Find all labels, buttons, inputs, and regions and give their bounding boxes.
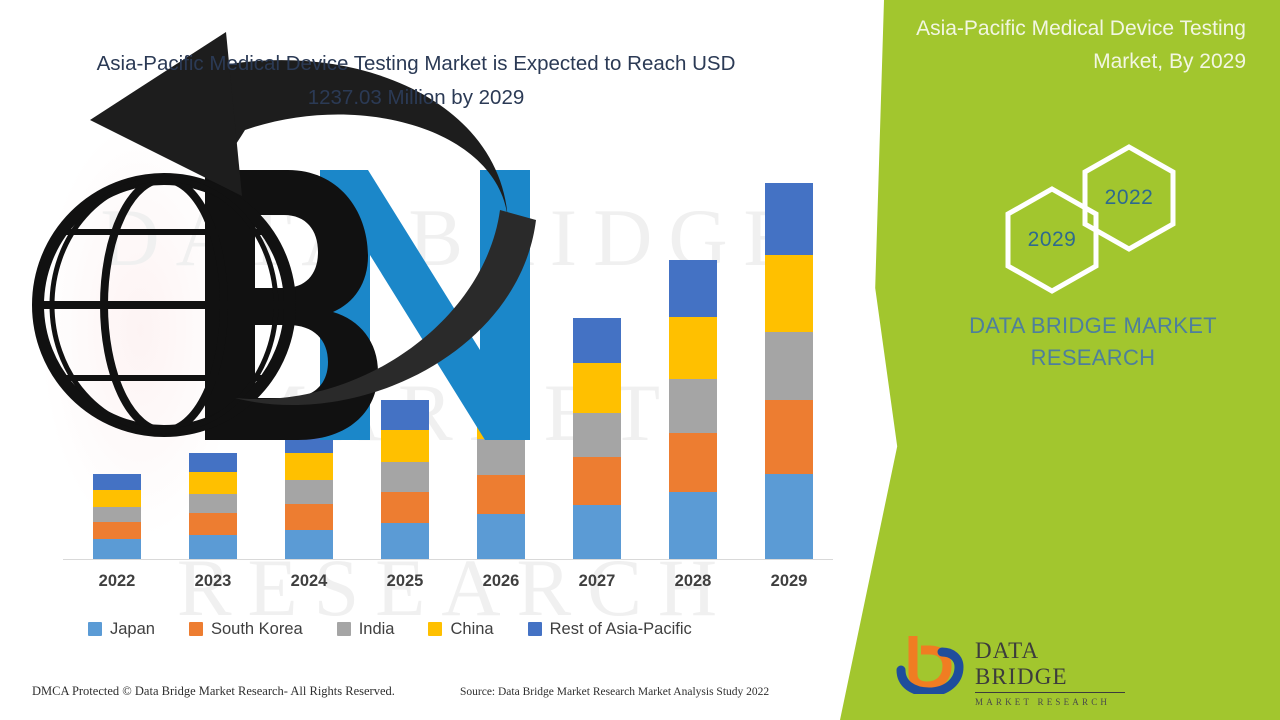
x-tick-2028: 2028 xyxy=(658,572,728,591)
bar-segment-china-2023 xyxy=(189,472,237,494)
legend-swatch-icon xyxy=(88,622,102,636)
x-tick-2027: 2027 xyxy=(562,572,632,591)
bar-segment-japan-2024 xyxy=(285,530,333,559)
x-tick-2026: 2026 xyxy=(466,572,536,591)
x-tick-2029: 2029 xyxy=(754,572,824,591)
bar-segment-india-2025 xyxy=(381,462,429,491)
legend-swatch-icon xyxy=(428,622,442,636)
bar-segment-rest-of-asia-pacific-2028 xyxy=(669,260,717,317)
legend-item-south-korea[interactable]: South Korea xyxy=(189,620,303,639)
bar-segment-india-2028 xyxy=(669,379,717,433)
bar-segment-south-korea-2026 xyxy=(477,475,525,514)
hexagon-label-2029: 2029 xyxy=(1028,228,1077,252)
hexagon-label-2022: 2022 xyxy=(1105,186,1154,210)
bar-segment-japan-2026 xyxy=(477,514,525,559)
x-tick-2022: 2022 xyxy=(82,572,152,591)
bar-segment-china-2022 xyxy=(93,490,141,507)
legend-label: China xyxy=(450,620,493,639)
legend-swatch-icon xyxy=(189,622,203,636)
bar-column-2029 xyxy=(765,183,813,559)
panel-title: Asia-Pacific Medical Device Testing Mark… xyxy=(916,12,1246,78)
globe-icon xyxy=(38,179,290,431)
bar-segment-south-korea-2022 xyxy=(93,522,141,539)
bar-segment-japan-2027 xyxy=(573,505,621,559)
bar-segment-india-2029 xyxy=(765,332,813,400)
legend-label: Rest of Asia-Pacific xyxy=(550,620,692,639)
bar-segment-japan-2025 xyxy=(381,523,429,559)
chart-legend: JapanSouth KoreaIndiaChinaRest of Asia-P… xyxy=(88,616,692,642)
bar-segment-rest-of-asia-pacific-2029 xyxy=(765,183,813,255)
bar-segment-japan-2022 xyxy=(93,539,141,559)
bar-column-2022 xyxy=(93,474,141,559)
x-tick-2025: 2025 xyxy=(370,572,440,591)
legend-swatch-icon xyxy=(528,622,542,636)
dmca-footer-text: DMCA Protected © Data Bridge Market Rese… xyxy=(32,684,395,699)
bar-segment-south-korea-2027 xyxy=(573,457,621,505)
bar-segment-rest-of-asia-pacific-2022 xyxy=(93,474,141,489)
page-title: Asia-Pacific Medical Device Testing Mark… xyxy=(96,47,736,115)
bar-segment-rest-of-asia-pacific-2023 xyxy=(189,453,237,473)
data-bridge-logo: DATA BRIDGE MARKET RESEARCH xyxy=(895,630,1125,700)
hexagon-badges: 2022 2029 xyxy=(995,143,1185,283)
legend-item-rest-of-asia-pacific[interactable]: Rest of Asia-Pacific xyxy=(528,620,692,639)
legend-label: India xyxy=(359,620,395,639)
data-bridge-logo-words: DATA BRIDGE MARKET RESEARCH xyxy=(975,638,1125,707)
hexagon-badge-2029: 2029 xyxy=(1003,185,1101,295)
bar-segment-china-2028 xyxy=(669,317,717,379)
legend-label: Japan xyxy=(110,620,155,639)
legend-swatch-icon xyxy=(337,622,351,636)
bar-segment-china-2024 xyxy=(285,453,333,480)
infographic-root: DATA BRIDGE MARKET RESEARCH Asia-Pacific… xyxy=(0,0,1280,720)
bar-column-2028 xyxy=(669,260,717,559)
data-bridge-mark-icon xyxy=(895,632,967,694)
x-axis-line xyxy=(63,559,833,560)
x-axis-tick-labels: 20222023202420252026202720282029 xyxy=(45,572,835,600)
panel-brand-text: DATA BRIDGE MARKET RESEARCH xyxy=(928,310,1258,374)
bar-segment-japan-2028 xyxy=(669,492,717,559)
logo-primary-text: DATA BRIDGE xyxy=(975,638,1125,693)
source-footer-text: Source: Data Bridge Market Research Mark… xyxy=(460,686,769,698)
legend-item-japan[interactable]: Japan xyxy=(88,620,155,639)
bar-column-2023 xyxy=(189,453,237,559)
bar-segment-japan-2023 xyxy=(189,535,237,559)
logo-secondary-text: MARKET RESEARCH xyxy=(975,697,1125,707)
bar-segment-south-korea-2028 xyxy=(669,433,717,492)
bar-segment-india-2024 xyxy=(285,480,333,504)
x-tick-2023: 2023 xyxy=(178,572,248,591)
legend-item-china[interactable]: China xyxy=(428,620,493,639)
bar-segment-south-korea-2025 xyxy=(381,492,429,524)
bar-segment-japan-2029 xyxy=(765,474,813,559)
bar-segment-china-2029 xyxy=(765,255,813,332)
bar-segment-south-korea-2029 xyxy=(765,400,813,474)
x-tick-2024: 2024 xyxy=(274,572,344,591)
bar-segment-india-2023 xyxy=(189,494,237,514)
legend-item-india[interactable]: India xyxy=(337,620,395,639)
bar-segment-south-korea-2023 xyxy=(189,513,237,535)
legend-label: South Korea xyxy=(211,620,303,639)
bar-segment-india-2022 xyxy=(93,507,141,522)
bar-segment-south-korea-2024 xyxy=(285,504,333,530)
